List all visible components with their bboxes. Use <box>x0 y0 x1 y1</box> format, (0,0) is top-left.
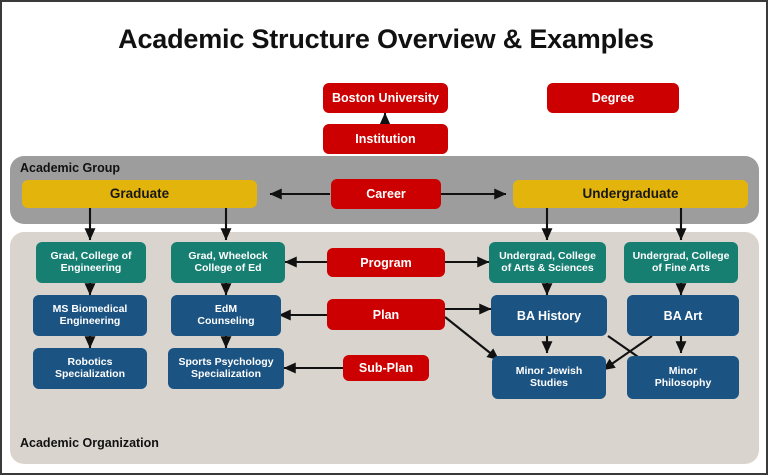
node-undergraduate[interactable]: Undergraduate <box>513 180 748 208</box>
node-robotics-specialization[interactable]: Robotics Specialization <box>33 348 147 389</box>
node-plan[interactable]: Plan <box>327 299 445 330</box>
node-grad-college-of-engineering[interactable]: Grad, College of Engineering <box>36 242 146 283</box>
node-undergrad-college-of-arts-sciences[interactable]: Undergrad, College of Arts & Sciences <box>489 242 606 283</box>
node-sports-psychology-specialization[interactable]: Sports Psychology Specialization <box>168 348 284 389</box>
node-edm-counseling[interactable]: EdM Counseling <box>171 295 281 336</box>
node-undergrad-college-of-fine-arts[interactable]: Undergrad, College of Fine Arts <box>624 242 738 283</box>
node-minor-jewish-studies[interactable]: Minor Jewish Studies <box>492 356 606 399</box>
node-ba-history[interactable]: BA History <box>491 295 607 336</box>
node-degree[interactable]: Degree <box>547 83 679 113</box>
node-sub-plan[interactable]: Sub-Plan <box>343 355 429 381</box>
academic-organization-band-label: Academic Organization <box>20 436 159 450</box>
node-institution[interactable]: Institution <box>323 124 448 154</box>
node-ba-art[interactable]: BA Art <box>627 295 739 336</box>
academic-group-band-label: Academic Group <box>20 161 120 175</box>
node-minor-philosophy[interactable]: Minor Philosophy <box>627 356 739 399</box>
node-career[interactable]: Career <box>331 179 441 209</box>
node-grad-wheelock-college-of-ed[interactable]: Grad, Wheelock College of Ed <box>171 242 285 283</box>
node-boston-university[interactable]: Boston University <box>323 83 448 113</box>
node-graduate[interactable]: Graduate <box>22 180 257 208</box>
node-program[interactable]: Program <box>327 248 445 277</box>
page-title: Academic Structure Overview & Examples <box>2 24 768 55</box>
node-ms-biomedical-engineering[interactable]: MS Biomedical Engineering <box>33 295 147 336</box>
diagram-canvas: Academic Structure Overview & Examples A… <box>0 0 768 475</box>
